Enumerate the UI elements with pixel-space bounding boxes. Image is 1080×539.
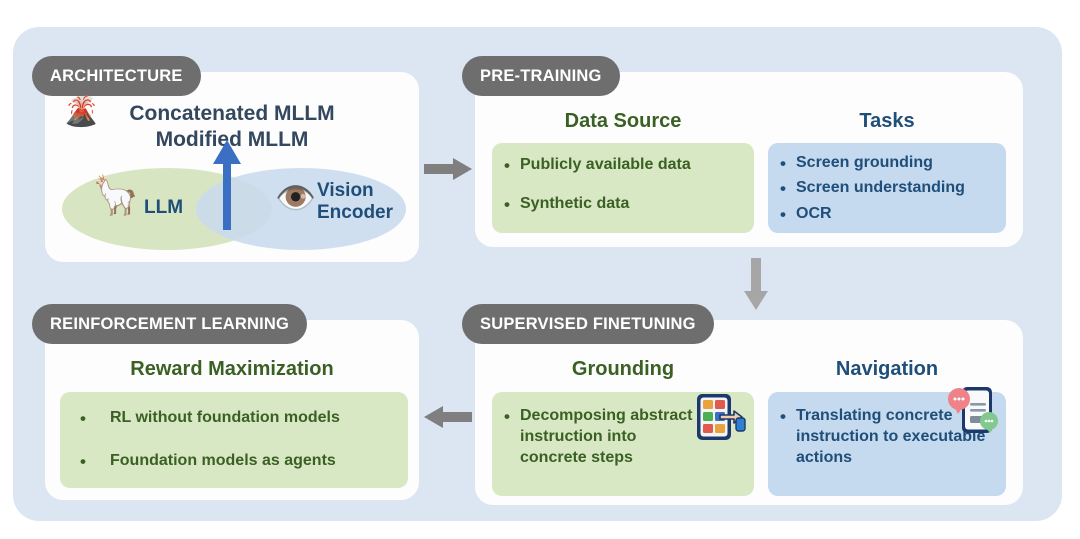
list-item-label: Publicly available data [520, 155, 691, 176]
architecture-title-line1: Concatenated MLLM [45, 101, 419, 127]
llm-label: LLM [144, 197, 183, 220]
vision-encoder-label-line1: Vision [317, 180, 393, 202]
phone-tap-icon [694, 392, 748, 442]
pretraining-heading-tasks: Tasks [768, 110, 1006, 133]
reinforcement-learning-badge[interactable]: REINFORCEMENT LEARNING [32, 304, 307, 344]
list-item: • Foundation models as agents [80, 451, 398, 472]
bullet-dot-icon: • [780, 178, 796, 199]
list-item: • Synthetic data [504, 194, 744, 215]
list-item-label: Synthetic data [520, 194, 629, 215]
sft-heading-navigation: Navigation [768, 358, 1006, 381]
list-item: • Screen understanding [780, 178, 996, 199]
bullet-dot-icon: • [780, 153, 796, 174]
pretraining-data-source-box: • Publicly available data • Synthetic da… [492, 143, 754, 233]
list-item: • Publicly available data [504, 155, 744, 176]
phone-chat-icon [944, 383, 1000, 439]
list-item-label: Foundation models as agents [110, 451, 336, 472]
bullet-dot-icon: • [504, 155, 520, 176]
vision-encoder-label-line2: Encoder [317, 202, 393, 224]
sft-heading-grounding: Grounding [492, 358, 754, 381]
bullet-dot-icon: • [504, 406, 520, 427]
pretraining-badge[interactable]: PRE-TRAINING [462, 56, 620, 96]
list-item: • Screen grounding [780, 153, 996, 174]
list-item: • OCR [780, 204, 996, 225]
llama-icon: 🦙 [92, 177, 139, 215]
pretraining-tasks-list: • Screen grounding • Screen understandin… [780, 153, 996, 225]
supervised-finetuning-badge[interactable]: SUPERVISED FINETUNING [462, 304, 714, 344]
pretraining-heading-data-source: Data Source [492, 110, 754, 133]
up-arrow-icon [212, 140, 242, 232]
rl-reward-box: • RL without foundation models • Foundat… [60, 392, 408, 488]
vision-encoder-label: Vision Encoder [317, 180, 393, 224]
arrow-architecture-to-pretraining [424, 157, 472, 181]
list-item-label: OCR [796, 204, 832, 225]
arrow-sft-to-rl [424, 405, 472, 429]
bullet-dot-icon: • [780, 406, 796, 427]
rl-heading-reward-maximization: Reward Maximization [45, 358, 419, 381]
bullet-dot-icon: • [80, 451, 96, 472]
rl-reward-list: • RL without foundation models • Foundat… [80, 408, 398, 473]
list-item-label: RL without foundation models [110, 408, 340, 429]
diagram-canvas: ARCHITECTURE 🌋 Concatenated MLLM Modifie… [0, 0, 1080, 539]
arrow-pretraining-to-sft [743, 258, 769, 310]
list-item-label: Screen grounding [796, 153, 933, 174]
pretraining-data-source-list: • Publicly available data • Synthetic da… [504, 155, 744, 216]
pretraining-tasks-box: • Screen grounding • Screen understandin… [768, 143, 1006, 233]
bullet-dot-icon: • [80, 408, 96, 429]
eye-icon: 👁️ [275, 181, 316, 214]
bullet-dot-icon: • [504, 194, 520, 215]
architecture-badge[interactable]: ARCHITECTURE [32, 56, 201, 96]
list-item-label: Decomposing abstract instruction into co… [520, 406, 698, 468]
bullet-dot-icon: • [780, 204, 796, 225]
list-item: • RL without foundation models [80, 408, 398, 429]
list-item-label: Screen understanding [796, 178, 965, 199]
